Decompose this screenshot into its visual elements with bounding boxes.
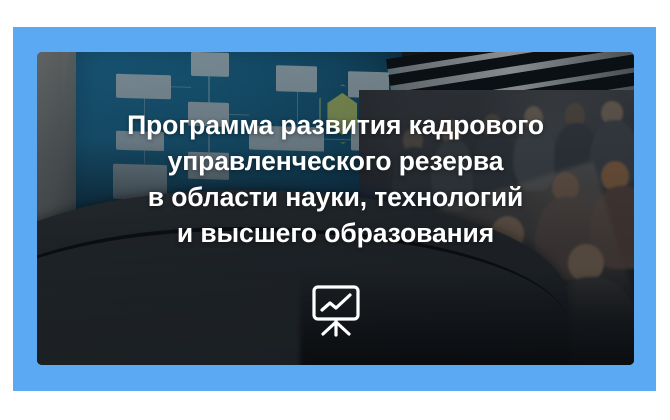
page-root: Программа развития кадрового управленчес… <box>0 0 670 420</box>
card-blue-frame: Программа развития кадрового управленчес… <box>13 27 656 391</box>
banner-title-line-1: Программа развития кадрового <box>47 107 624 143</box>
presentation-chart-icon <box>310 284 362 338</box>
presentation-chart-icon-svg <box>310 284 362 338</box>
banner-card[interactable]: Программа развития кадрового управленчес… <box>37 52 634 365</box>
banner-title-line-3: в области науки, технологий <box>47 179 624 215</box>
banner-title-line-2: управленческого резерва <box>47 143 624 179</box>
banner-title-line-4: и высшего образования <box>47 215 624 251</box>
banner-title: Программа развития кадрового управленчес… <box>37 107 634 251</box>
